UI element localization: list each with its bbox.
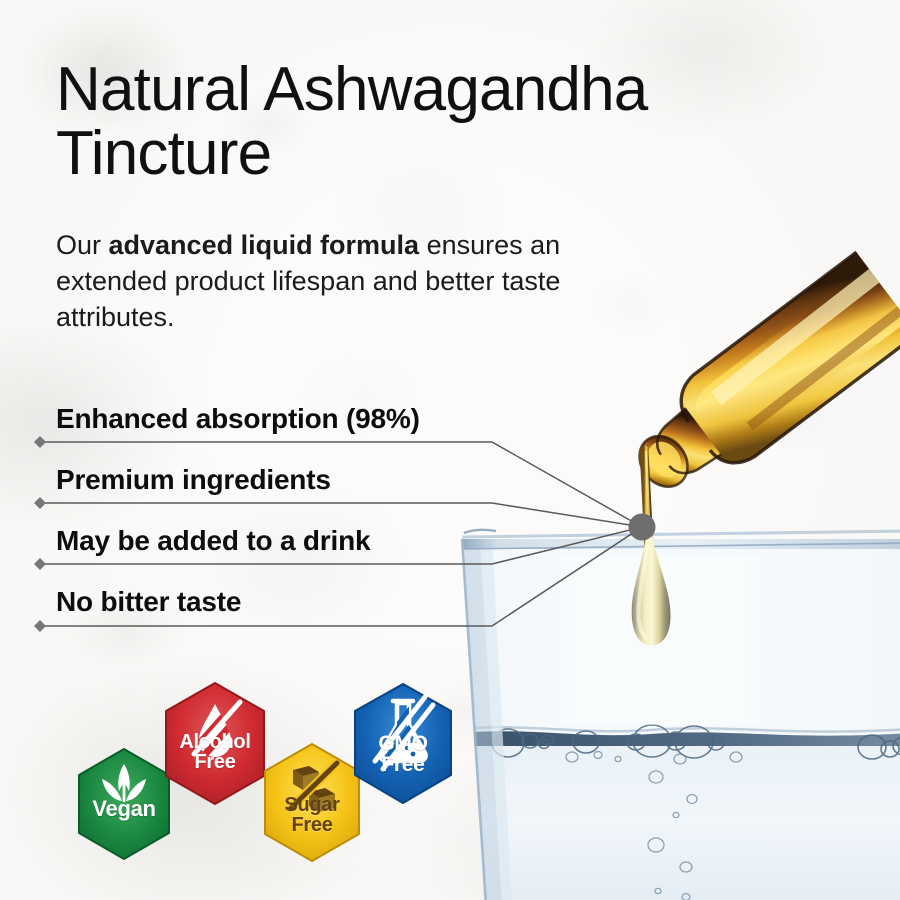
certification-badges: Vegan (0, 0, 900, 900)
badge-gmo-free[interactable]: GMO Free (347, 681, 459, 807)
badge-alcohol-free[interactable]: Alcohol Free (158, 680, 272, 808)
infographic-canvas: Natural Ashwagandha Tincture Our advance… (0, 0, 900, 900)
